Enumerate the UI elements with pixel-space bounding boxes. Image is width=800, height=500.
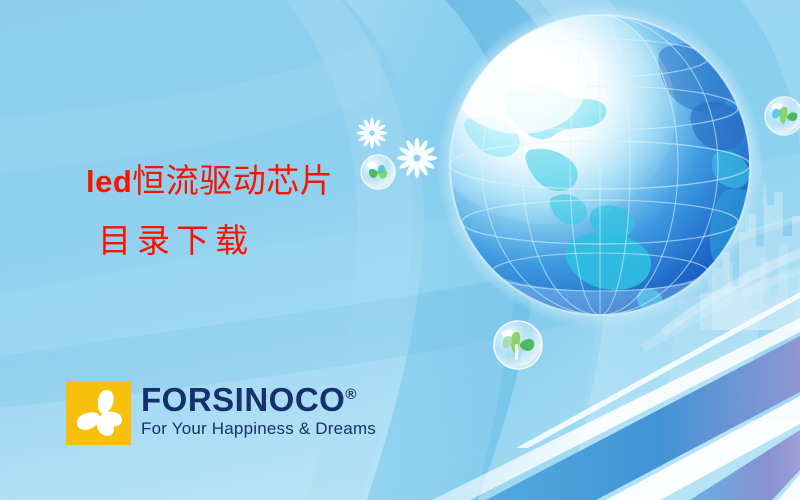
registered-trademark-icon: ® (345, 386, 356, 403)
bubble-pinwheel-bottom (494, 321, 542, 369)
company-logo: FORSINOCO® For Your Happiness & Dreams (66, 381, 376, 445)
bubble-pinwheel-left (361, 155, 395, 189)
logo-company-name: FORSINOCO® (141, 383, 376, 416)
logo-wordmark: FORSINOCO® For Your Happiness & Dreams (141, 381, 376, 437)
logo-name-text: FORSINOCO (141, 381, 345, 418)
pinwheel-flower-icon (66, 381, 131, 445)
logo-mark-square (66, 381, 131, 445)
promo-banner-slide: led恒流驱动芯片 目录下载 FORSINOCO® For Your Happi… (0, 0, 800, 500)
logo-tagline: For Your Happiness & Dreams (141, 420, 376, 437)
bubble-pinwheel-right (765, 97, 800, 135)
